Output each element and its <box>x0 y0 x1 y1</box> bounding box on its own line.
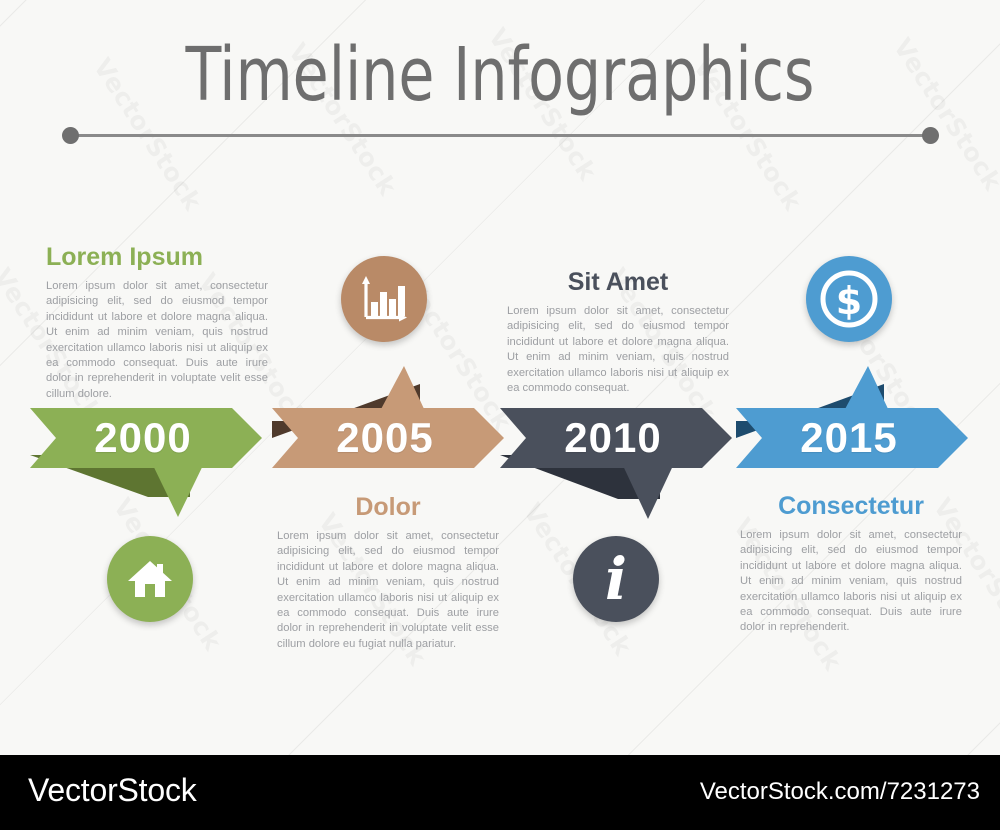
ribbon-year-2015: 2015 <box>800 414 903 462</box>
milestone-heading-2010: Sit Amet <box>507 268 729 297</box>
ribbon-2000[interactable]: 2000 <box>30 408 262 468</box>
milestone-text-2010: Sit Amet Lorem ipsum dolor sit amet, con… <box>507 268 729 396</box>
footer-url: VectorStock.com/7231273 <box>700 778 980 806</box>
milestone-body-2005: Lorem ipsum dolor sit amet, consectetur … <box>277 529 499 652</box>
ribbon-year-2000: 2000 <box>94 414 197 462</box>
ribbon-2005[interactable]: 2005 <box>272 408 504 468</box>
info-icon-glyph: i <box>605 550 627 608</box>
info-icon[interactable]: i <box>573 536 659 622</box>
bar-chart-icon[interactable] <box>341 256 427 342</box>
milestone-body-2000: Lorem ipsum dolor sit amet, consectetur … <box>46 279 268 402</box>
ribbon-year-2005: 2005 <box>336 414 439 462</box>
svg-text:$: $ <box>836 279 862 323</box>
dollar-coin-icon[interactable]: $ <box>806 256 892 342</box>
home-icon[interactable] <box>107 536 193 622</box>
timeline-dot-left <box>62 127 79 144</box>
ribbon-2015[interactable]: 2015 <box>736 408 968 468</box>
milestone-text-2005: Dolor Lorem ipsum dolor sit amet, consec… <box>277 493 499 652</box>
bar-chart-icon-glyph <box>359 274 409 324</box>
page-title: Timeline Infographics <box>60 34 940 116</box>
milestone-text-2000: Lorem Ipsum Lorem ipsum dolor sit amet, … <box>46 243 268 402</box>
timeline-dot-right <box>922 127 939 144</box>
milestone-body-2015: Lorem ipsum dolor sit amet, consectetur … <box>740 528 962 636</box>
milestone-heading-2005: Dolor <box>277 493 499 522</box>
infographic-canvas: VectorStock VectorStock VectorStock Vect… <box>0 0 1000 830</box>
milestone-heading-2000: Lorem Ipsum <box>46 243 268 272</box>
footer-brand: VectorStock <box>28 772 197 809</box>
dollar-coin-icon-glyph: $ <box>818 268 880 330</box>
ribbon-tail-2000 <box>30 455 230 545</box>
timeline-rule <box>70 134 930 137</box>
milestone-body-2010: Lorem ipsum dolor sit amet, consectetur … <box>507 304 729 396</box>
milestone-heading-2015: Consectetur <box>740 492 962 521</box>
milestone-text-2015: Consectetur Lorem ipsum dolor sit amet, … <box>740 492 962 636</box>
footer-bar: VectorStock VectorStock.com/7231273 <box>0 755 1000 830</box>
home-icon-glyph <box>126 555 174 603</box>
ribbon-2010[interactable]: 2010 <box>500 408 732 468</box>
ribbon-tail-2010 <box>500 455 700 547</box>
ribbon-year-2010: 2010 <box>564 414 667 462</box>
